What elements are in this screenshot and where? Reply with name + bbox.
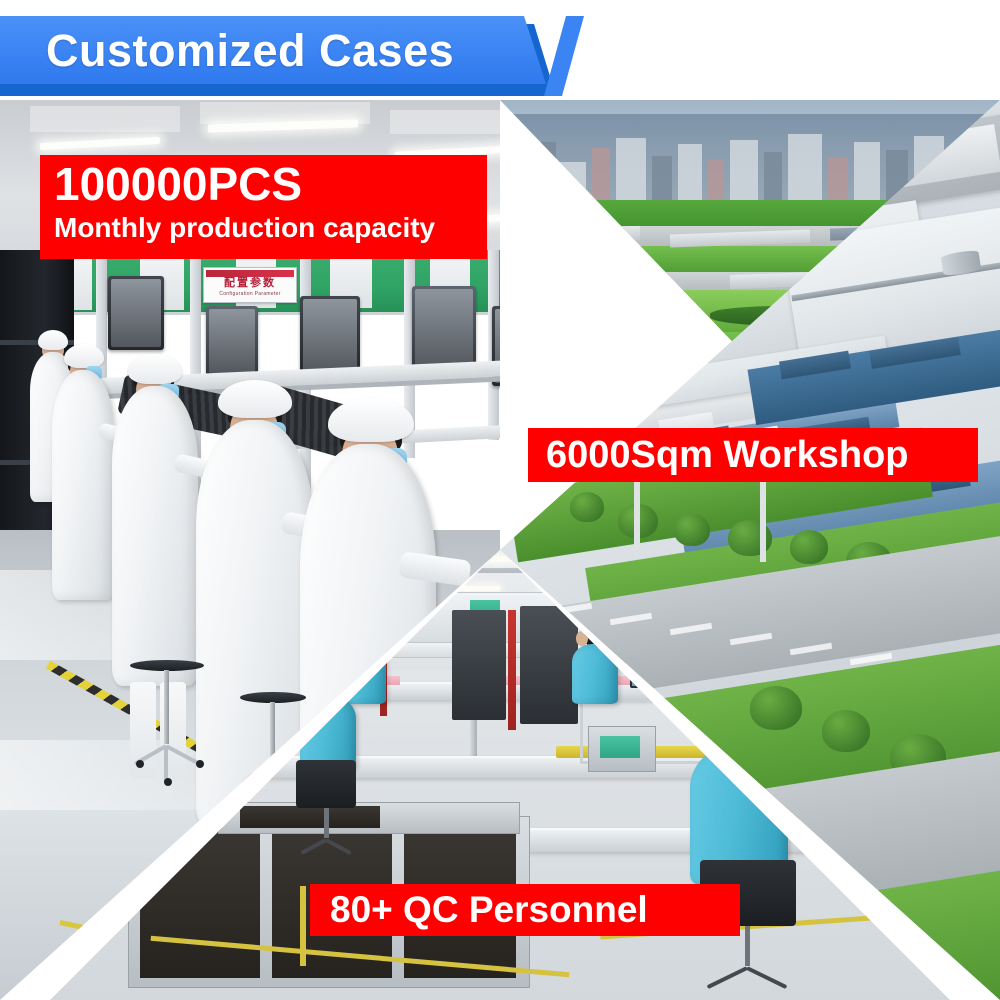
title-banner-accent-slash [544, 16, 584, 96]
worker-cyan-uniform [572, 644, 618, 704]
worker-white-gown [112, 386, 198, 686]
worker-white-gown [52, 370, 114, 600]
label-workshop-area: 6000Sqm Workshop [528, 428, 978, 482]
capacity-headline: 100000PCS [54, 157, 302, 211]
promo-banner-image: 配置参数 Configuration Parameter FQC [0, 0, 1000, 1000]
label-qc-personnel: 80+ QC Personnel [310, 884, 740, 936]
page-title: Customized Cases [46, 20, 454, 82]
task-chair [296, 760, 356, 850]
workshop-text: 6000Sqm Workshop [546, 429, 909, 481]
sign-config-en: Configuration Parameter [204, 291, 296, 297]
qc-text: 80+ QC Personnel [330, 884, 648, 936]
lab-stool [130, 660, 204, 790]
sign-config-cn: 配置参数 [204, 278, 296, 289]
sign-configuration-parameter: 配置参数 Configuration Parameter [203, 267, 297, 303]
label-monthly-capacity: 100000PCS Monthly production capacity [40, 155, 487, 259]
capacity-caption: Monthly production capacity [54, 211, 435, 245]
